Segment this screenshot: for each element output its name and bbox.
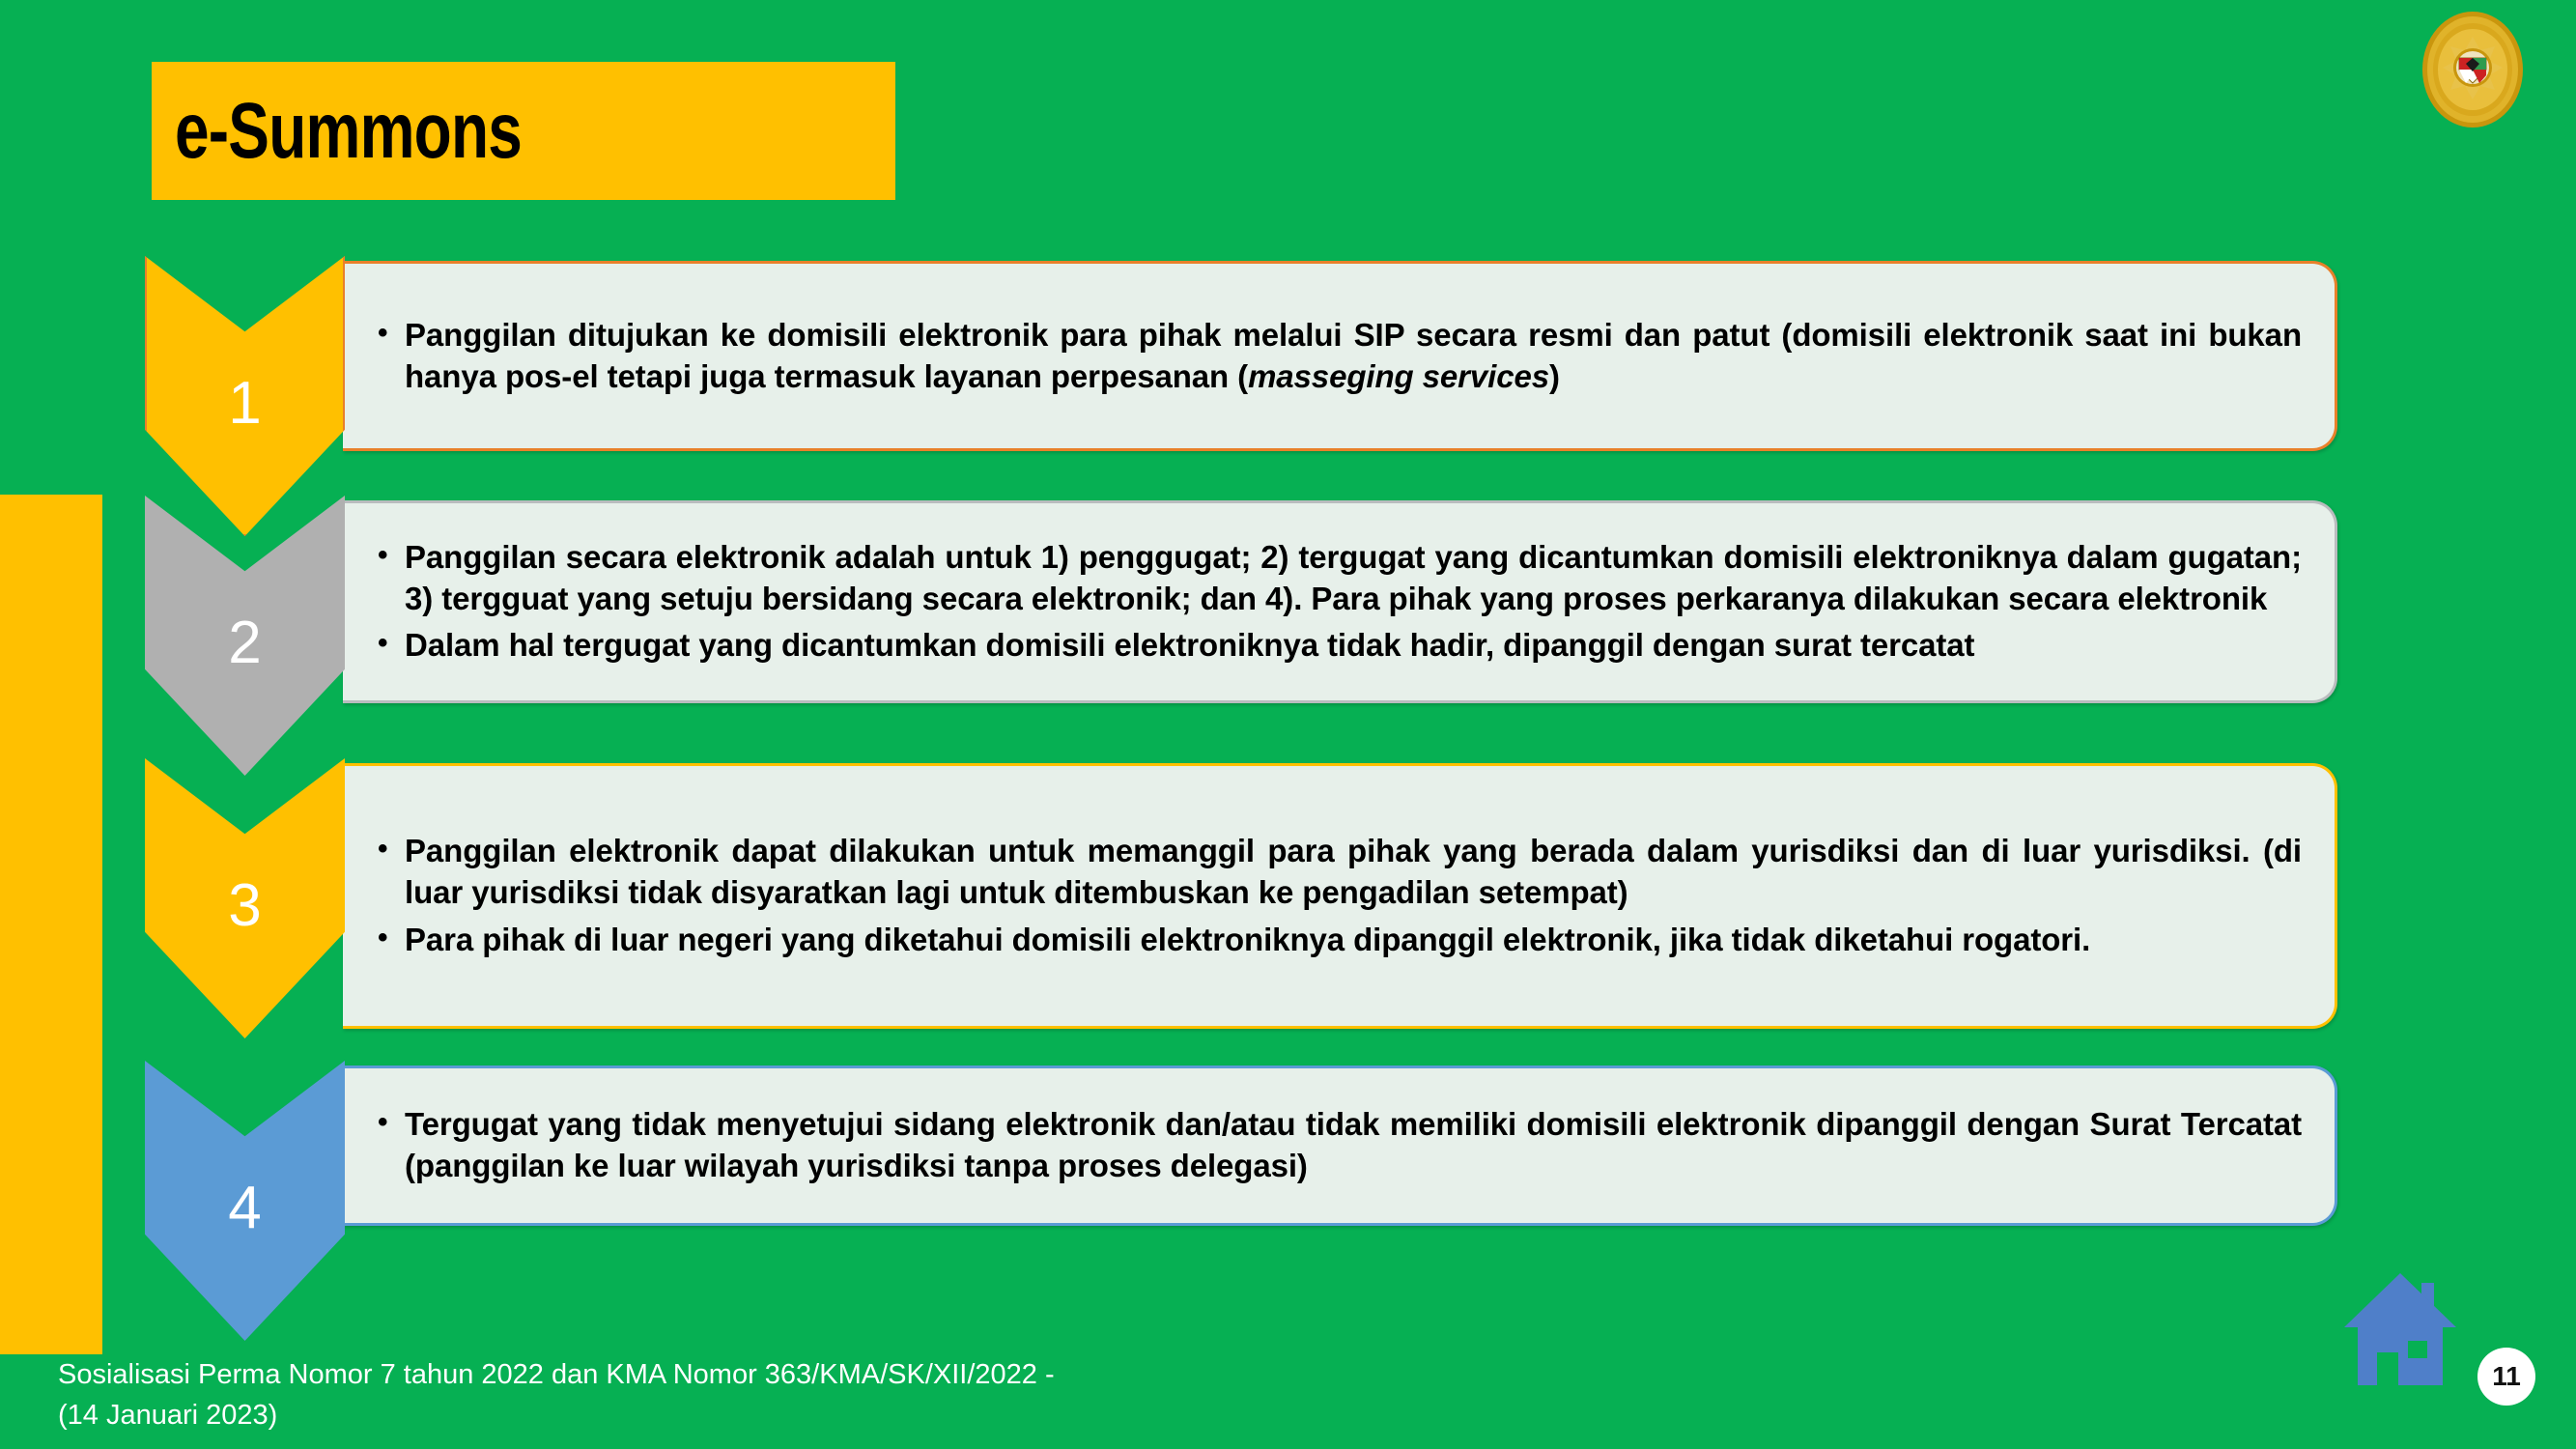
step-box-4: Tergugat yang tidak menyetujui sidang el… bbox=[343, 1065, 2337, 1226]
bullet-text: Dalam hal tergugat yang dicantumkan domi… bbox=[405, 627, 1974, 663]
bullet-text: Panggilan elektronik dapat dilakukan unt… bbox=[405, 833, 2302, 910]
footer-line-1: Sosialisasi Perma Nomor 7 tahun 2022 dan… bbox=[58, 1354, 1055, 1395]
list-item: Para pihak di luar negeri yang diketahui… bbox=[372, 920, 2302, 961]
step-box-3: Panggilan elektronik dapat dilakukan unt… bbox=[343, 763, 2337, 1029]
list-item: Dalam hal tergugat yang dicantumkan domi… bbox=[372, 625, 2302, 667]
list-item: Tergugat yang tidak menyetujui sidang el… bbox=[372, 1104, 2302, 1187]
list-item: Panggilan ditujukan ke domisili elektron… bbox=[372, 315, 2302, 398]
bullet-italic-text: masseging services bbox=[1248, 358, 1549, 394]
step-bullets-2: Panggilan secara elektronik adalah untuk… bbox=[372, 537, 2302, 668]
step-number-3: 3 bbox=[228, 876, 261, 936]
step-number-2: 2 bbox=[228, 613, 261, 673]
step-box-2: Panggilan secara elektronik adalah untuk… bbox=[343, 500, 2337, 703]
footer-line-2: (14 Januari 2023) bbox=[58, 1395, 1055, 1435]
step-chevron-1: 1 bbox=[145, 256, 345, 536]
list-item: Panggilan elektronik dapat dilakukan unt… bbox=[372, 831, 2302, 914]
mahkamah-agung-emblem-icon bbox=[2416, 8, 2530, 131]
step-number-4: 4 bbox=[228, 1179, 261, 1238]
step-bullets-1: Panggilan ditujukan ke domisili elektron… bbox=[372, 315, 2302, 398]
step-number-1: 1 bbox=[228, 374, 261, 434]
bullet-text-post: ) bbox=[1549, 358, 1560, 394]
step-box-1: Panggilan ditujukan ke domisili elektron… bbox=[343, 261, 2337, 451]
bullet-text: Panggilan secara elektronik adalah untuk… bbox=[405, 539, 2302, 616]
step-chevron-3: 3 bbox=[145, 758, 345, 1038]
bullet-text: Para pihak di luar negeri yang diketahui… bbox=[405, 922, 2090, 957]
step-chevron-2: 2 bbox=[145, 496, 345, 776]
page-number: 11 bbox=[2492, 1361, 2521, 1392]
page-title: e-Summons bbox=[175, 86, 522, 177]
page-number-badge: 11 bbox=[2477, 1348, 2535, 1406]
step-bullets-4: Tergugat yang tidak menyetujui sidang el… bbox=[372, 1104, 2302, 1187]
step-bullets-3: Panggilan elektronik dapat dilakukan unt… bbox=[372, 831, 2302, 961]
left-accent-bar bbox=[0, 495, 102, 1354]
title-banner: e-Summons bbox=[152, 62, 895, 200]
list-item: Panggilan secara elektronik adalah untuk… bbox=[372, 537, 2302, 620]
step-chevron-4: 4 bbox=[145, 1061, 345, 1341]
bullet-text: Tergugat yang tidak menyetujui sidang el… bbox=[405, 1106, 2302, 1183]
footer-note: Sosialisasi Perma Nomor 7 tahun 2022 dan… bbox=[58, 1354, 1055, 1435]
home-icon[interactable] bbox=[2342, 1267, 2458, 1393]
